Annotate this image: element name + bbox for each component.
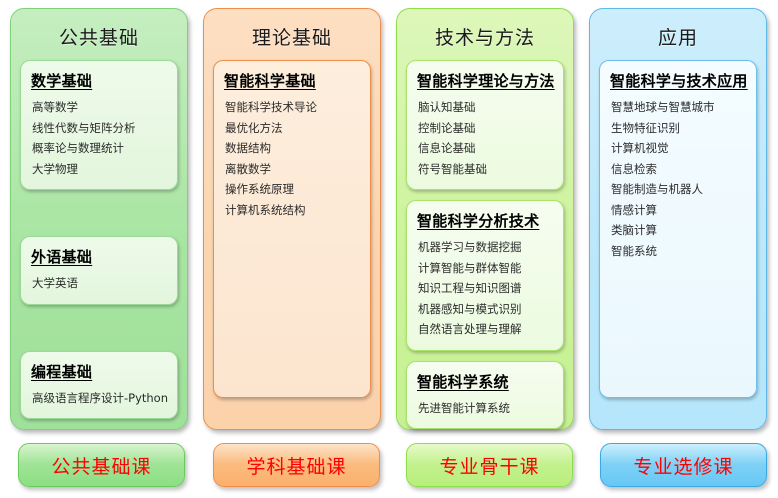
card-title: 智能科学与技术应用 [610, 70, 746, 91]
legend-public-basic-course[interactable]: 公共基础课 [18, 443, 185, 487]
course-item: 控制论基础 [417, 119, 553, 140]
course-item: 生物特征识别 [610, 119, 746, 140]
course-item: 大学英语 [31, 274, 167, 295]
legend-major-core-course[interactable]: 专业骨干课 [406, 443, 573, 487]
course-item: 计算机系统结构 [224, 201, 360, 222]
legend-label: 公共基础课 [51, 452, 151, 479]
course-item: 先进智能计算系统 [417, 399, 553, 420]
course-item: 机器学习与数据挖掘 [417, 238, 553, 259]
course-item: 操作系统原理 [224, 180, 360, 201]
card-programming-foundation[interactable]: 编程基础 高级语言程序设计-Python [20, 351, 178, 420]
course-item: 智能科学技术导论 [224, 98, 360, 119]
course-item: 线性代数与矩阵分析 [31, 119, 167, 140]
card-intelligent-science-theory-methods[interactable]: 智能科学理论与方法 脑认知基础 控制论基础 信息论基础 符号智能基础 [406, 60, 564, 190]
card-intelligent-science-foundation[interactable]: 智能科学基础 智能科学技术导论 最优化方法 数据结构 离散数学 操作系统原理 计… [213, 60, 371, 398]
course-item: 信息论基础 [417, 139, 553, 160]
course-item: 计算机视觉 [610, 139, 746, 160]
legend-label: 专业选修课 [633, 452, 733, 479]
course-item: 信息检索 [610, 160, 746, 181]
column-public-foundation[interactable]: 公共基础 数学基础 高等数学 线性代数与矩阵分析 概率论与数理统计 大学物理 外… [10, 8, 188, 430]
legend-major-elective-course[interactable]: 专业选修课 [600, 443, 767, 487]
course-item: 高等数学 [31, 98, 167, 119]
legend-label: 学科基础课 [246, 452, 346, 479]
legend-bar: 公共基础课 学科基础课 专业骨干课 专业选修课 [0, 443, 778, 491]
course-item: 最优化方法 [224, 119, 360, 140]
card-intelligent-science-analysis-tech[interactable]: 智能科学分析技术 机器学习与数据挖掘 计算智能与群体智能 知识工程与知识图谱 机… [406, 200, 564, 351]
column-title: 理论基础 [204, 9, 380, 60]
column-title: 公共基础 [11, 9, 187, 60]
card-intelligent-science-system[interactable]: 智能科学系统 先进智能计算系统 [406, 361, 564, 430]
course-item: 数据结构 [224, 139, 360, 160]
column-card-list: 数学基础 高等数学 线性代数与矩阵分析 概率论与数理统计 大学物理 外语基础 大… [11, 60, 187, 419]
legend-discipline-basic-course[interactable]: 学科基础课 [213, 443, 380, 487]
course-item: 脑认知基础 [417, 98, 553, 119]
course-item: 情感计算 [610, 201, 746, 222]
card-title: 智能科学基础 [224, 70, 360, 91]
course-item: 概率论与数理统计 [31, 139, 167, 160]
column-card-list: 智能科学理论与方法 脑认知基础 控制论基础 信息论基础 符号智能基础 智能科学分… [397, 60, 573, 429]
course-item: 高级语言程序设计-Python [31, 389, 167, 410]
card-title: 编程基础 [31, 361, 167, 382]
legend-label: 专业骨干课 [439, 452, 539, 479]
card-title: 智能科学分析技术 [417, 210, 553, 231]
column-theory-foundation[interactable]: 理论基础 智能科学基础 智能科学技术导论 最优化方法 数据结构 离散数学 操作系… [203, 8, 381, 430]
column-application[interactable]: 应用 智能科学与技术应用 智慧地球与智慧城市 生物特征识别 计算机视觉 信息检索… [589, 8, 767, 430]
card-intelligent-science-tech-application[interactable]: 智能科学与技术应用 智慧地球与智慧城市 生物特征识别 计算机视觉 信息检索 智能… [599, 60, 757, 398]
course-item: 机器感知与模式识别 [417, 300, 553, 321]
card-title: 智能科学理论与方法 [417, 70, 553, 91]
course-item: 类脑计算 [610, 221, 746, 242]
card-title: 智能科学系统 [417, 371, 553, 392]
course-item: 知识工程与知识图谱 [417, 279, 553, 300]
course-item: 智慧地球与智慧城市 [610, 98, 746, 119]
column-title: 应用 [590, 9, 766, 60]
column-title: 技术与方法 [397, 9, 573, 60]
course-item: 计算智能与群体智能 [417, 259, 553, 280]
card-title: 外语基础 [31, 246, 167, 267]
course-item: 自然语言处理与理解 [417, 320, 553, 341]
course-item: 离散数学 [224, 160, 360, 181]
card-math-foundation[interactable]: 数学基础 高等数学 线性代数与矩阵分析 概率论与数理统计 大学物理 [20, 60, 178, 190]
column-technology-and-methods[interactable]: 技术与方法 智能科学理论与方法 脑认知基础 控制论基础 信息论基础 符号智能基础… [396, 8, 574, 430]
column-card-list: 智能科学基础 智能科学技术导论 最优化方法 数据结构 离散数学 操作系统原理 计… [204, 60, 380, 398]
course-item: 智能制造与机器人 [610, 180, 746, 201]
card-foreign-language-foundation[interactable]: 外语基础 大学英语 [20, 236, 178, 305]
course-item: 大学物理 [31, 160, 167, 181]
course-item: 符号智能基础 [417, 160, 553, 181]
card-title: 数学基础 [31, 70, 167, 91]
curriculum-board: 公共基础 数学基础 高等数学 线性代数与矩阵分析 概率论与数理统计 大学物理 外… [0, 0, 778, 498]
column-card-list: 智能科学与技术应用 智慧地球与智慧城市 生物特征识别 计算机视觉 信息检索 智能… [590, 60, 766, 398]
course-item: 智能系统 [610, 242, 746, 263]
